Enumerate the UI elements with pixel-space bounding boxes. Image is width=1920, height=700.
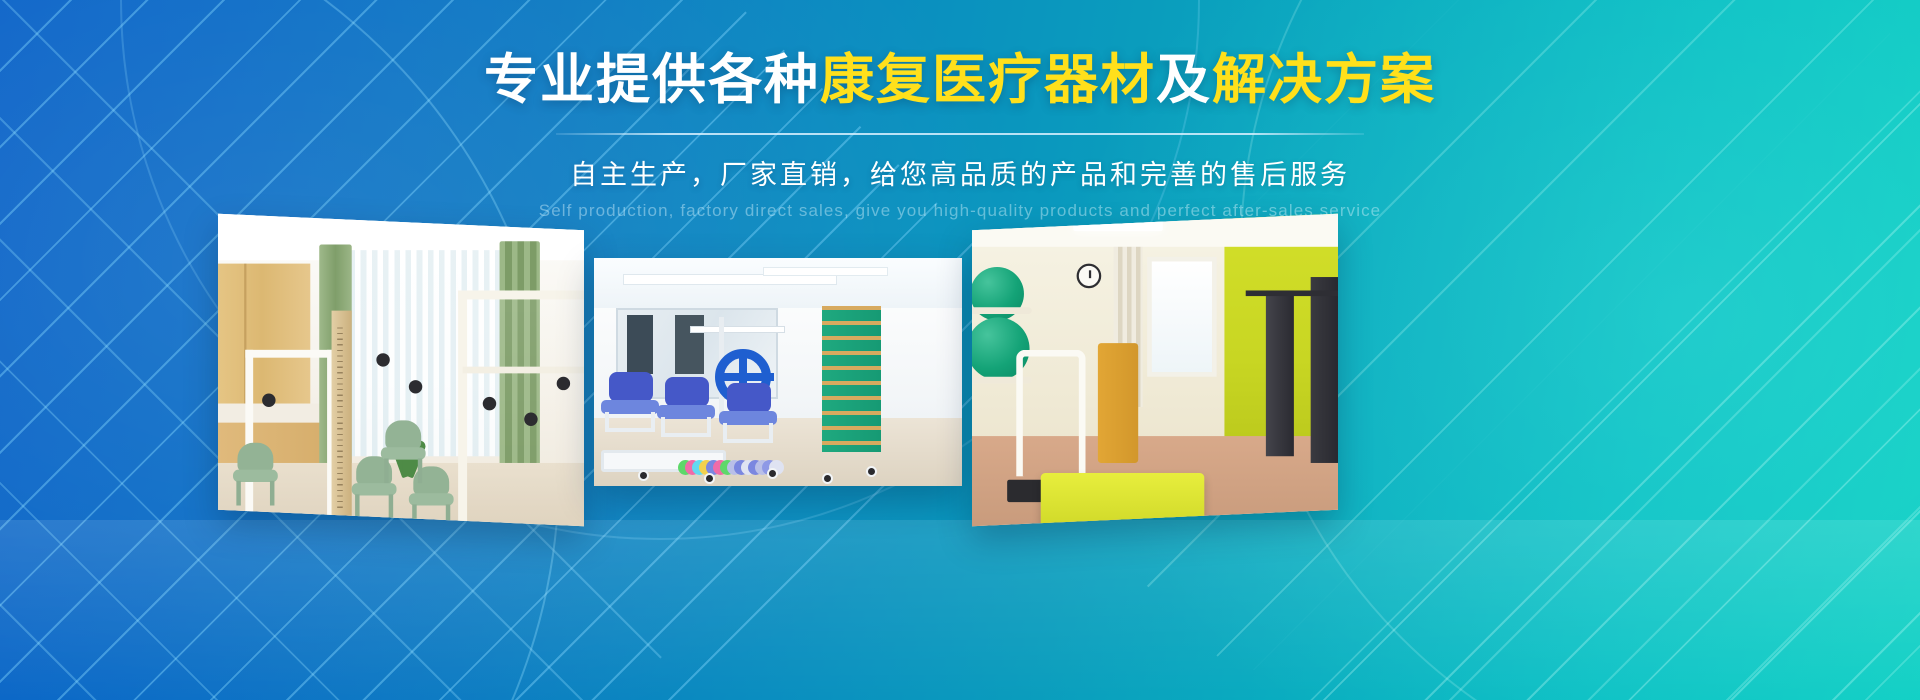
subtitle-english: Self production, factory direct sales, g…	[0, 201, 1920, 221]
headline-segment-2: 康复医疗器材	[820, 48, 1156, 111]
headline-segment-4: 解决方案	[1212, 48, 1436, 111]
gallery-photo-exercise-room[interactable]: 运动康复房，绿色健身球与训练器械	[972, 214, 1338, 527]
subtitle-chinese: 自主生产，厂家直销，给您高品质的产品和完善的售后服务	[0, 153, 1920, 192]
gallery-photo-rehabilitation-training-room[interactable]: 康复训练室，木质训练架与绿色窗帘	[218, 214, 584, 527]
gallery-photo-therapy-hall[interactable]: 康复理疗大厅，蓝色治疗椅与绿色肋木架	[594, 258, 962, 486]
headline-divider	[556, 133, 1364, 135]
promo-banner: 专业提供各种康复医疗器材及解决方案 自主生产，厂家直销，给您高品质的产品和完善的…	[0, 0, 1920, 700]
banner-text-block: 专业提供各种康复医疗器材及解决方案 自主生产，厂家直销，给您高品质的产品和完善的…	[0, 52, 1920, 221]
headline-segment-3: 及	[1156, 48, 1212, 111]
headline: 专业提供各种康复医疗器材及解决方案	[0, 52, 1920, 109]
headline-segment-1: 专业提供各种	[484, 48, 820, 111]
